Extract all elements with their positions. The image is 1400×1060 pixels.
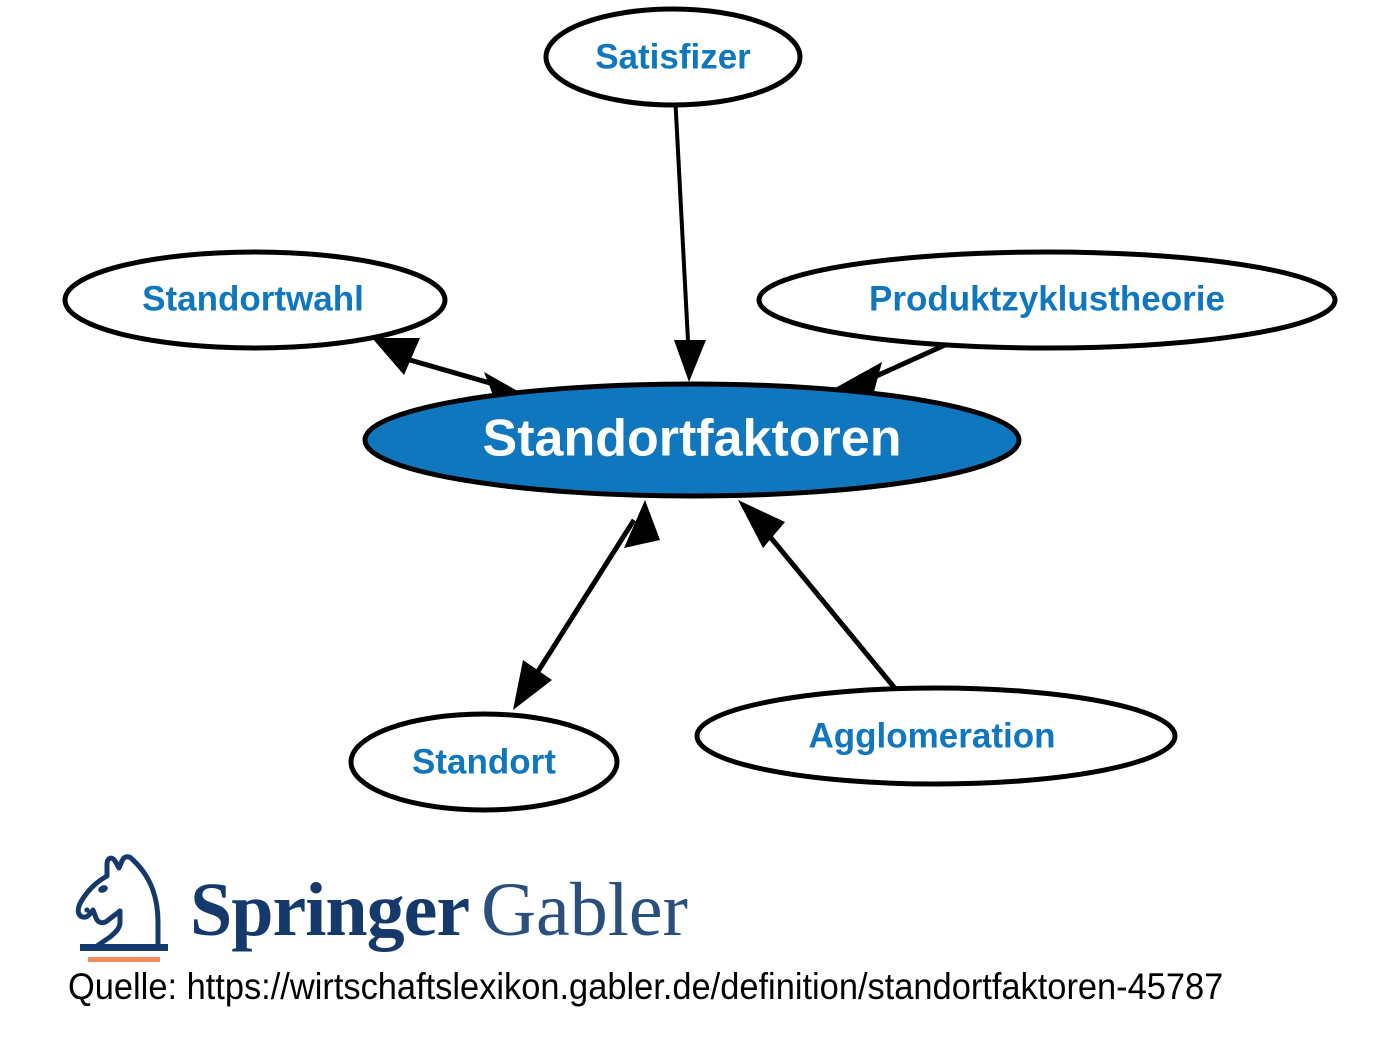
node-standortfaktoren[interactable]: Standortfaktoren bbox=[365, 384, 1019, 496]
edge-standortfaktoren-standort bbox=[513, 500, 660, 710]
concept-map-graph: Satisfizer Standortwahl Produktzyklusthe… bbox=[0, 0, 1400, 830]
source-url-text: Quelle: https://wirtschaftslexikon.gable… bbox=[68, 966, 1223, 1008]
edge-satisfizer-to-standortfaktoren bbox=[674, 94, 706, 382]
node-satisfizer-label: Satisfizer bbox=[595, 37, 751, 76]
node-standort[interactable]: Standort bbox=[351, 714, 617, 810]
node-agglomeration-label: Agglomeration bbox=[809, 716, 1056, 755]
node-standortfaktoren-label: Standortfaktoren bbox=[483, 410, 902, 468]
node-satisfizer[interactable]: Satisfizer bbox=[546, 9, 800, 105]
node-produktzyklustheorie[interactable]: Produktzyklustheorie bbox=[759, 252, 1335, 348]
node-produktzyklustheorie-label: Produktzyklustheorie bbox=[869, 279, 1225, 318]
node-standortwahl[interactable]: Standortwahl bbox=[65, 252, 445, 348]
arrowhead-down bbox=[674, 340, 706, 382]
logo-accent-bar bbox=[88, 957, 160, 962]
node-standort-label: Standort bbox=[412, 742, 556, 781]
knight-nostril bbox=[84, 907, 89, 912]
edge-agglomeration-to-standortfaktoren bbox=[738, 500, 898, 692]
arrowhead-to-standortwahl bbox=[372, 338, 420, 375]
logo-word-springer: Springer bbox=[190, 868, 469, 952]
arrowhead-to-standortfaktoren-bottomright bbox=[738, 500, 785, 548]
knight-outline bbox=[78, 857, 158, 948]
springer-gabler-logo: SpringerGabler bbox=[72, 842, 688, 962]
arrowhead-to-standort bbox=[513, 660, 552, 710]
knight-chess-piece-icon bbox=[72, 852, 176, 962]
logo-wordmark: SpringerGabler bbox=[190, 872, 688, 948]
node-standortwahl-label: Standortwahl bbox=[142, 279, 364, 318]
logo-word-gabler: Gabler bbox=[481, 868, 688, 952]
footer: SpringerGabler Quelle: https://wirtschaf… bbox=[0, 830, 1400, 1060]
node-agglomeration[interactable]: Agglomeration bbox=[697, 688, 1175, 784]
knight-base bbox=[80, 944, 168, 951]
diagram-canvas: Satisfizer Standortwahl Produktzyklusthe… bbox=[0, 0, 1400, 1060]
